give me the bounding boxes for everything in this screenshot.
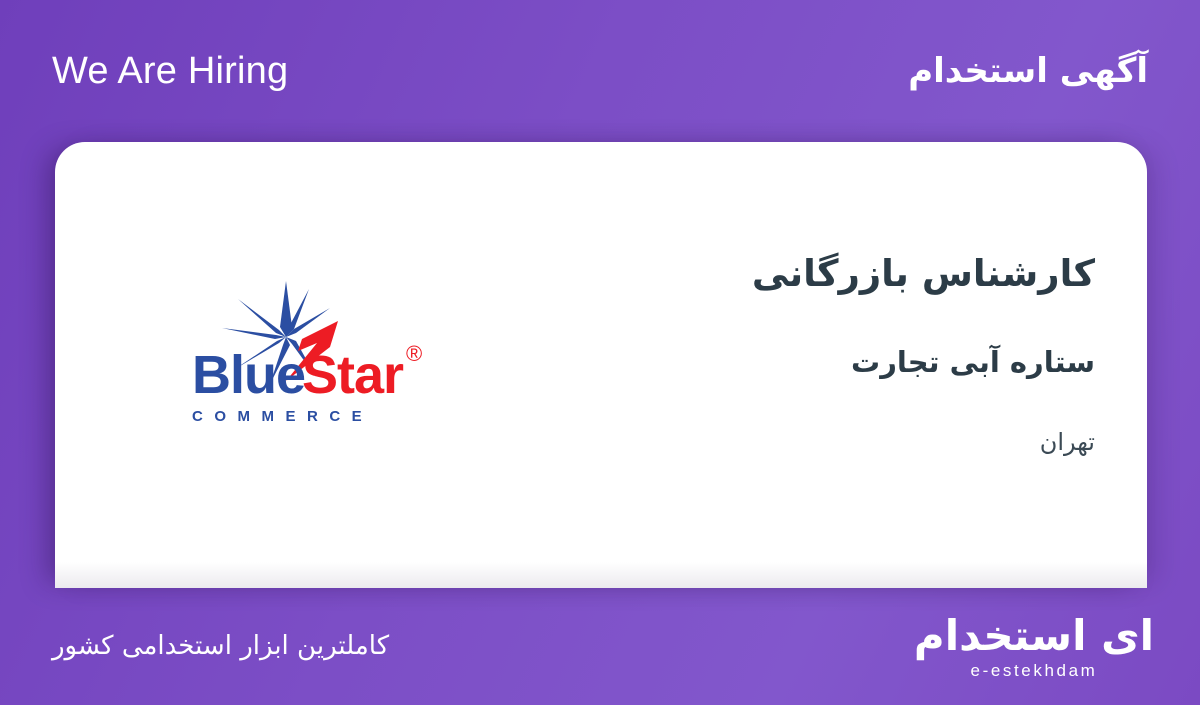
- poster-header: We Are Hiring آگهی استخدام: [0, 0, 1200, 142]
- footer-tagline: کاملترین ابزار استخدامی کشور: [52, 629, 389, 664]
- brand-latin-wordmark: e-estekhdam: [971, 662, 1098, 679]
- brand-persian-wordmark: ای استخدام: [914, 614, 1154, 658]
- svg-text:Star: Star: [302, 345, 404, 405]
- job-city: تهران: [598, 427, 1095, 458]
- bluestar-logo: Blue Star ® COMMERCE: [178, 281, 446, 431]
- job-info-pane: کارشناس بازرگانی ستاره آبی تجارت تهران: [568, 142, 1147, 588]
- svg-text:®: ®: [406, 341, 422, 366]
- header-english-title: We Are Hiring: [52, 52, 288, 90]
- bluestar-logo-graphic: Blue Star ® COMMERCE: [178, 281, 446, 431]
- e-estekhdam-logo: ای استخدام e-estekhdam: [914, 614, 1154, 679]
- svg-text:Blue: Blue: [192, 345, 305, 405]
- job-ad-card: Blue Star ® COMMERCE کارشناس بازرگانی ست…: [55, 142, 1147, 588]
- company-name: ستاره آبی تجارت: [598, 344, 1095, 382]
- bluestar-wordmark: Blue Star ®: [192, 341, 422, 405]
- svg-text:COMMERCE: COMMERCE: [192, 408, 373, 425]
- header-persian-title: آگهی استخدام: [908, 50, 1148, 93]
- poster-footer: کاملترین ابزار استخدامی کشور ای استخدام …: [0, 588, 1200, 705]
- job-ad-poster: We Are Hiring آگهی استخدام: [0, 0, 1200, 705]
- company-logo-pane: Blue Star ® COMMERCE: [55, 142, 568, 588]
- commerce-tagline: COMMERCE: [192, 408, 373, 425]
- job-title: کارشناس بازرگانی: [598, 250, 1095, 298]
